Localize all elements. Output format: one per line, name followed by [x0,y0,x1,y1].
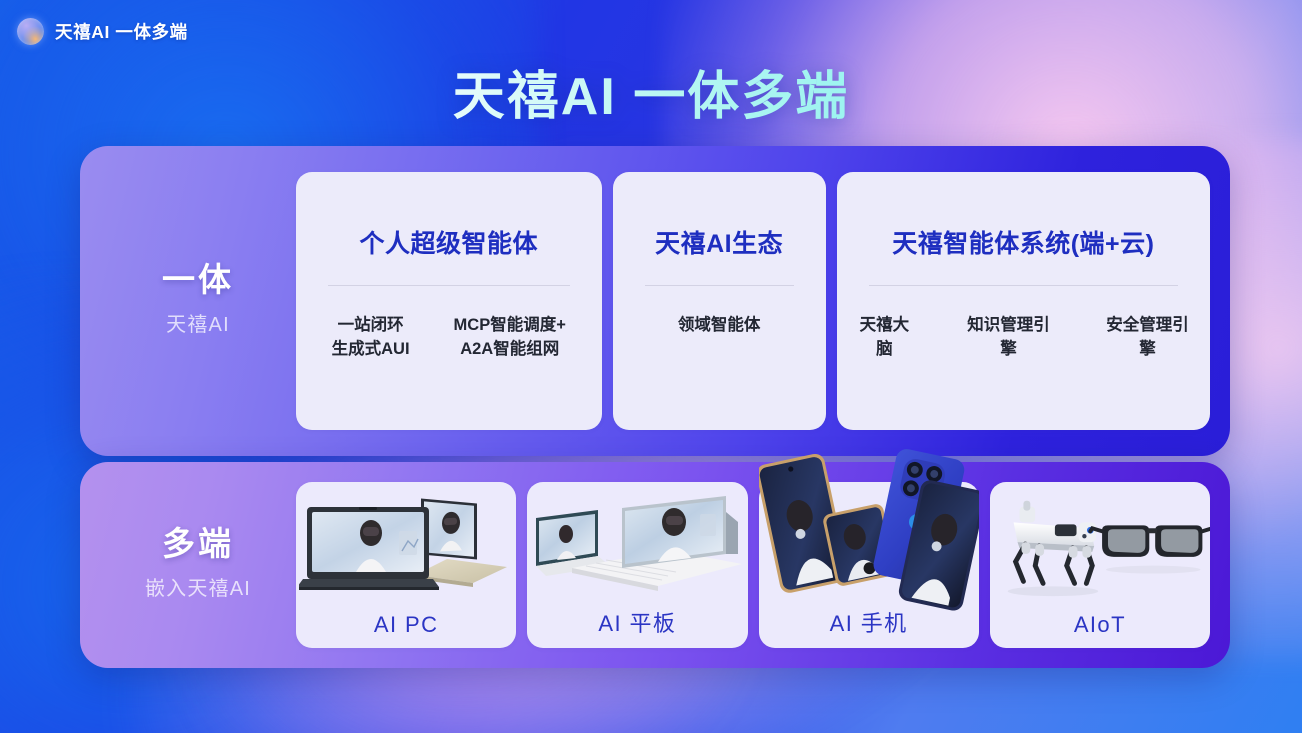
brand-logo-bar: 天禧AI 一体多端 [17,18,188,45]
capability-item: 一站闭环 生成式AUI [332,314,410,362]
capability-card-items: 天禧大脑 知识管理引擎 安全管理引擎 [855,314,1192,362]
device-card-aiot[interactable]: AIoT [990,482,1210,648]
section-label-subtitle: 天禧AI [166,308,230,337]
device-card-ai-tablet[interactable]: AI 平板 [527,482,747,648]
capability-item: 安全管理引擎 [1103,314,1192,362]
device-card-ai-phone[interactable]: AI 手机 [759,482,979,648]
capability-card-title: 个人超级智能体 [314,224,584,260]
device-card-label: AI 手机 [830,606,908,638]
device-card-rail: AI PC [296,482,1210,648]
tablets-icon [527,482,747,610]
brand-logo-label: 天禧AI 一体多端 [55,19,188,44]
capability-card-title: 天禧智能体系统(端+云) [855,224,1192,260]
capability-item: MCP智能调度+ A2A智能组网 [454,314,566,362]
capability-card[interactable]: 个人超级智能体 一站闭环 生成式AUI MCP智能调度+ A2A智能组网 [296,172,602,430]
device-card-label: AI 平板 [598,606,676,638]
robot-dog-and-glasses-icon [990,482,1210,610]
capability-item: 领域智能体 [678,314,761,338]
device-card-label: AIoT [1074,612,1126,638]
capability-card-rail: 个人超级智能体 一站闭环 生成式AUI MCP智能调度+ A2A智能组网 天禧A… [296,172,1210,430]
sphere-logo-icon [17,18,44,45]
capability-card-items: 一站闭环 生成式AUI MCP智能调度+ A2A智能组网 [314,314,584,362]
section-label-subtitle: 嵌入天禧AI [145,572,251,601]
device-card-ai-pc[interactable]: AI PC [296,482,516,648]
divider [328,285,570,286]
laptops-icon [296,482,516,610]
section-label-multi-device: 多端 嵌入天禧AI [100,482,296,648]
divider [645,285,794,286]
divider [869,285,1178,286]
capability-item: 天禧大脑 [855,314,914,362]
phones-icon [759,458,979,610]
capability-card[interactable]: 天禧AI生态 领域智能体 [613,172,826,430]
section-label-title: 多端 [162,525,234,563]
page-title: 天禧AI 一体多端 [0,54,1302,129]
capability-card-items: 领域智能体 [631,314,808,338]
capability-card[interactable]: 天禧智能体系统(端+云) 天禧大脑 知识管理引擎 安全管理引擎 [837,172,1210,430]
capability-card-title: 天禧AI生态 [631,224,808,260]
section-panel-integrated: 一体 天禧AI 个人超级智能体 一站闭环 生成式AUI MCP智能调度+ A2A… [80,146,1230,456]
section-panel-multi-device: 多端 嵌入天禧AI [80,462,1230,668]
section-label-title: 一体 [162,261,234,299]
capability-item: 知识管理引擎 [964,314,1053,362]
device-card-label: AI PC [374,612,438,638]
section-label-integrated: 一体 天禧AI [100,172,296,430]
